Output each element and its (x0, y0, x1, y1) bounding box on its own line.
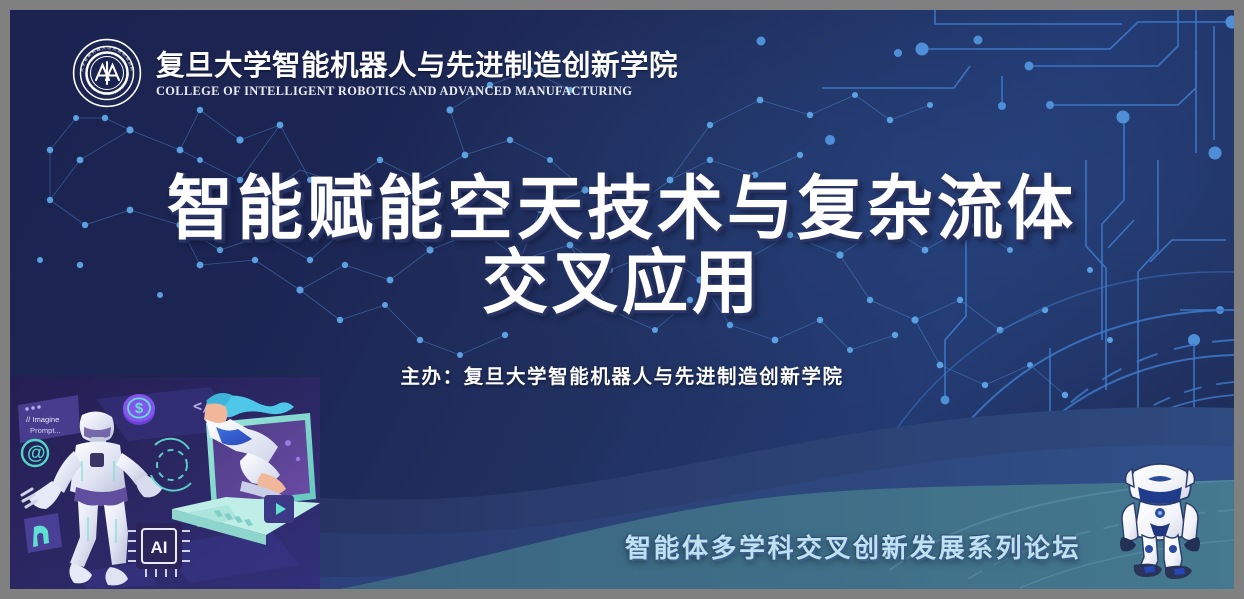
play-button-icon (264, 495, 294, 523)
dollar-coin-icon: $ (123, 394, 155, 425)
conference-poster: 复旦大学智能机器人与先进制造创新学院 COLLEGE OF INTELLIGEN… (10, 10, 1234, 589)
college-header: 复旦大学智能机器人与先进制造创新学院 COLLEGE OF INTELLIGEN… (72, 38, 678, 108)
ai-human-robot-handshake-illustration: // Imagine Prompt... @ $ </> (10, 377, 320, 589)
folder-icon (24, 513, 62, 553)
fudan-college-emblem-icon: 复旦大学智能机器人与先进制造创新学院 COLLEGE OF INTELLIGEN… (72, 38, 142, 108)
svg-text:AI: AI (151, 538, 168, 557)
at-symbol-icon: @ (27, 443, 46, 464)
college-name-cn: 复旦大学智能机器人与先进制造创新学院 (156, 51, 678, 82)
college-name-block: 复旦大学智能机器人与先进制造创新学院 COLLEGE OF INTELLIGEN… (156, 47, 678, 99)
title-line-1: 智能赋能空天技术与复杂流体 (10, 170, 1234, 248)
robot-mascot (1104, 453, 1216, 581)
college-name-en: COLLEGE OF INTELLIGENT ROBOTICS AND ADVA… (156, 84, 678, 99)
svg-text:$: $ (135, 400, 144, 417)
poster-title: 智能赋能空天技术与复杂流体 交叉应用 (10, 172, 1234, 320)
series-forum-banner: 智能体多学科交叉创新发展系列论坛 (625, 528, 1081, 565)
prompt-card-line-1: // Imagine (26, 415, 59, 424)
title-line-2: 交叉应用 (10, 244, 1234, 322)
prompt-card-line-2: Prompt... (30, 426, 61, 435)
